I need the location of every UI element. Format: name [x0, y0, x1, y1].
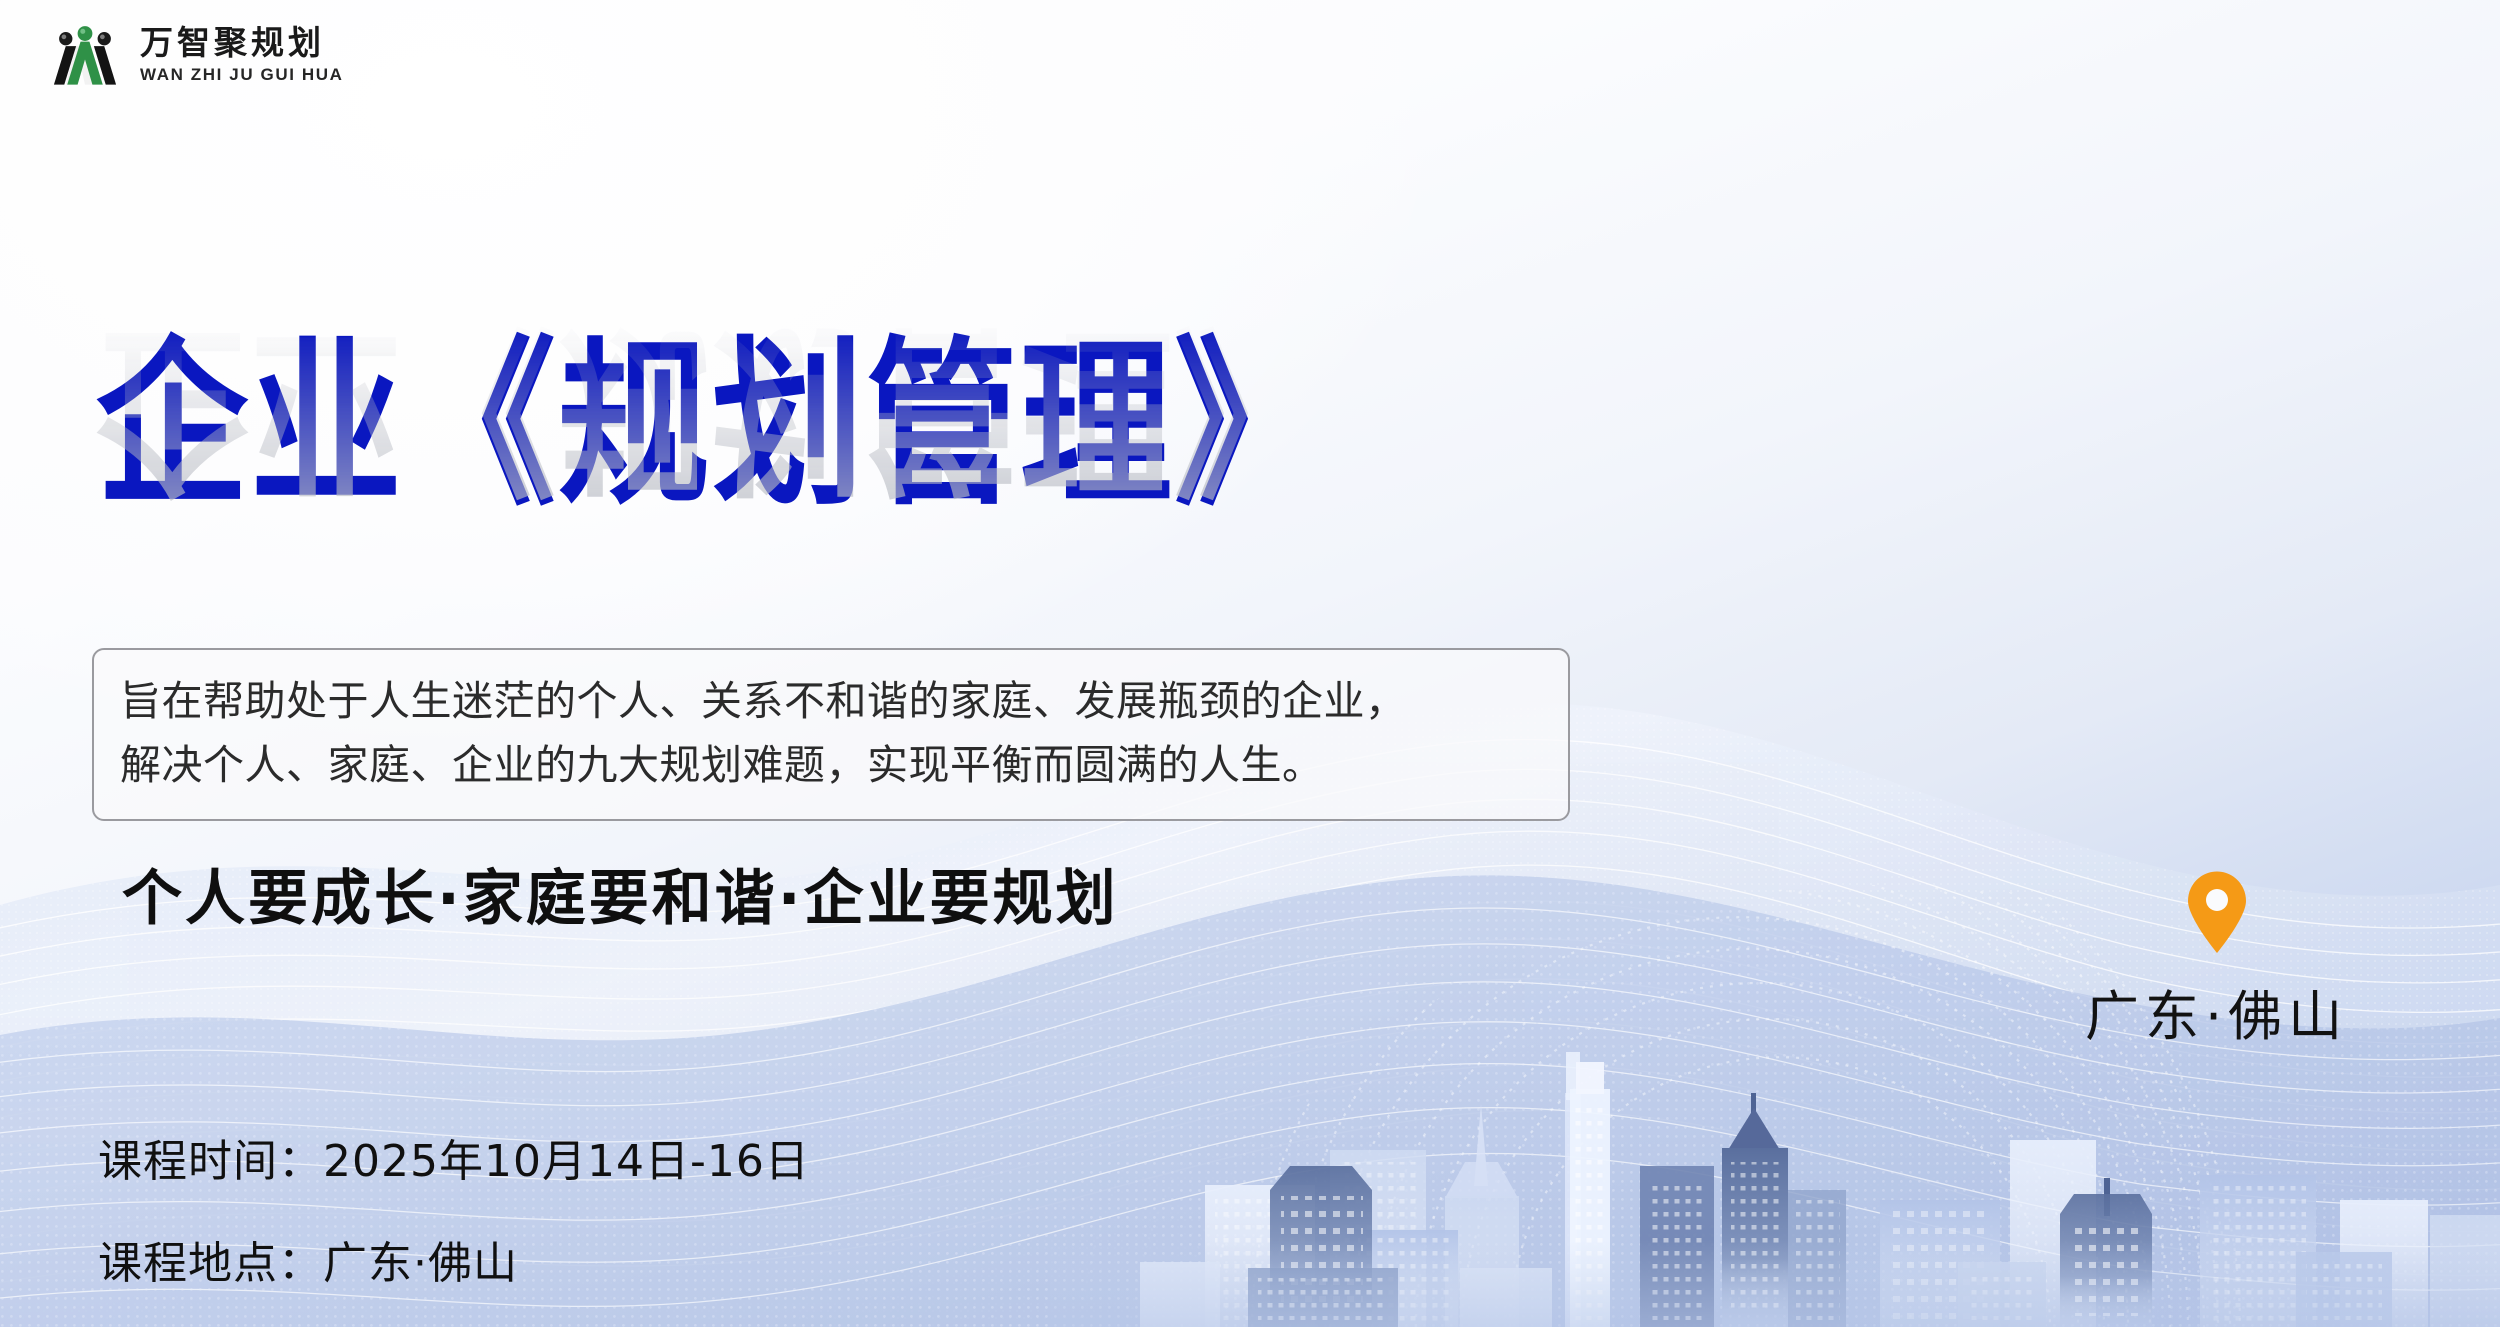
three-people-logo-icon: [48, 18, 122, 92]
brand-name-en: WAN ZHI JU GUI HUA: [140, 65, 344, 85]
course-place: 课程地点：广东·佛山: [98, 1227, 810, 1291]
location-label: 广东·佛山: [2085, 972, 2348, 1051]
brand-header: 万智聚规划 WAN ZHI JU GUI HUA: [48, 18, 344, 92]
course-time: 课程时间：2025年10月14日-16日: [98, 1125, 810, 1189]
tagline: 个人要成长·家庭要和谐·企业要规划: [122, 850, 1119, 937]
brand-name-cn: 万智聚规划: [140, 25, 344, 62]
page-title: 企业《规划管理》: [96, 330, 1328, 520]
description-line-2: 解决个人、家庭、企业的九大规划难题，实现平衡而圆满的人生。: [120, 734, 1542, 798]
hero-title-block: 企业《规划管理》 企业《规划管理》: [96, 330, 1328, 491]
map-pin-icon: [2184, 870, 2250, 954]
course-info: 课程时间：2025年10月14日-16日 课程地点：广东·佛山: [98, 1125, 810, 1291]
poster-canvas: 万智聚规划 WAN ZHI JU GUI HUA 企业《规划管理》 企业《规划管…: [0, 0, 2500, 1327]
brand-text: 万智聚规划 WAN ZHI JU GUI HUA: [140, 25, 344, 85]
location-badge: 广东·佛山: [2085, 870, 2348, 1051]
description-box: 旨在帮助处于人生迷茫的个人、关系不和谐的家庭、发展瓶颈的企业， 解决个人、家庭、…: [92, 648, 1570, 821]
description-line-1: 旨在帮助处于人生迷茫的个人、关系不和谐的家庭、发展瓶颈的企业，: [120, 670, 1542, 734]
